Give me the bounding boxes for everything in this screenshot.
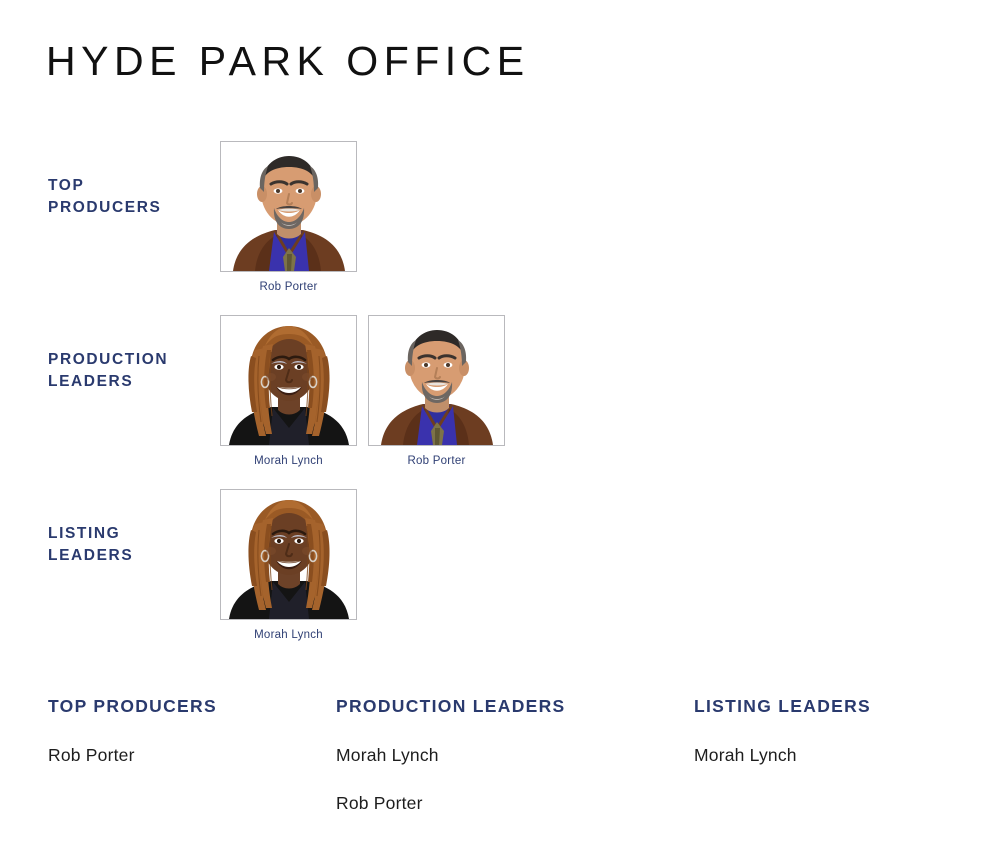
- summary-heading: LISTING LEADERS: [694, 698, 984, 716]
- rob-porter-headshot: [368, 315, 505, 446]
- summary-column-listing-leaders: LISTING LEADERS Morah Lynch: [694, 698, 984, 814]
- row-label-line-1: TOP: [48, 177, 84, 194]
- person-name-caption: Rob Porter: [407, 455, 465, 467]
- summary-column-top-producers: TOP PRODUCERS Rob Porter: [48, 698, 336, 814]
- row-label-top-producers: TOP PRODUCERS: [48, 175, 223, 219]
- row-label-line-2: PRODUCERS: [48, 199, 161, 216]
- row-label-line-2: LEADERS: [48, 373, 133, 390]
- page-title: HYDE PARK OFFICE: [46, 41, 530, 82]
- person-card[interactable]: Morah Lynch: [220, 315, 357, 467]
- award-row-people: Rob Porter: [220, 141, 357, 293]
- summary-heading: TOP PRODUCERS: [48, 698, 336, 716]
- summary-name-list: Morah Lynch: [694, 745, 984, 766]
- award-row-listing-leaders: LISTING LEADERS: [0, 480, 1000, 654]
- summary-section: TOP PRODUCERS Rob Porter PRODUCTION LEAD…: [0, 698, 1000, 814]
- award-row-top-producers: TOP PRODUCERS: [0, 132, 1000, 306]
- row-label-line-1: LISTING: [48, 525, 120, 542]
- summary-name-list: Rob Porter: [48, 745, 336, 766]
- morah-lynch-headshot: [220, 489, 357, 620]
- award-row-people: Morah Lynch: [220, 315, 505, 467]
- rob-porter-headshot: [220, 141, 357, 272]
- summary-name-item: Rob Porter: [48, 745, 336, 766]
- award-row-production-leaders: PRODUCTION LEADERS: [0, 306, 1000, 480]
- person-name-caption: Morah Lynch: [254, 455, 323, 467]
- summary-name-list: Morah Lynch Rob Porter: [336, 745, 694, 814]
- row-label-production-leaders: PRODUCTION LEADERS: [48, 349, 223, 393]
- person-card[interactable]: Rob Porter: [368, 315, 505, 467]
- award-row-people: Morah Lynch: [220, 489, 357, 641]
- summary-column-production-leaders: PRODUCTION LEADERS Morah Lynch Rob Porte…: [336, 698, 694, 814]
- award-rows-section: TOP PRODUCERS: [0, 132, 1000, 654]
- morah-lynch-headshot: [220, 315, 357, 446]
- row-label-listing-leaders: LISTING LEADERS: [48, 523, 223, 567]
- row-label-line-1: PRODUCTION: [48, 351, 168, 368]
- row-label-line-2: LEADERS: [48, 547, 133, 564]
- summary-name-item: Rob Porter: [336, 793, 694, 814]
- person-name-caption: Rob Porter: [259, 281, 317, 293]
- person-card[interactable]: Rob Porter: [220, 141, 357, 293]
- summary-name-item: Morah Lynch: [694, 745, 984, 766]
- summary-heading: PRODUCTION LEADERS: [336, 698, 694, 716]
- summary-name-item: Morah Lynch: [336, 745, 694, 766]
- person-card[interactable]: Morah Lynch: [220, 489, 357, 641]
- person-name-caption: Morah Lynch: [254, 629, 323, 641]
